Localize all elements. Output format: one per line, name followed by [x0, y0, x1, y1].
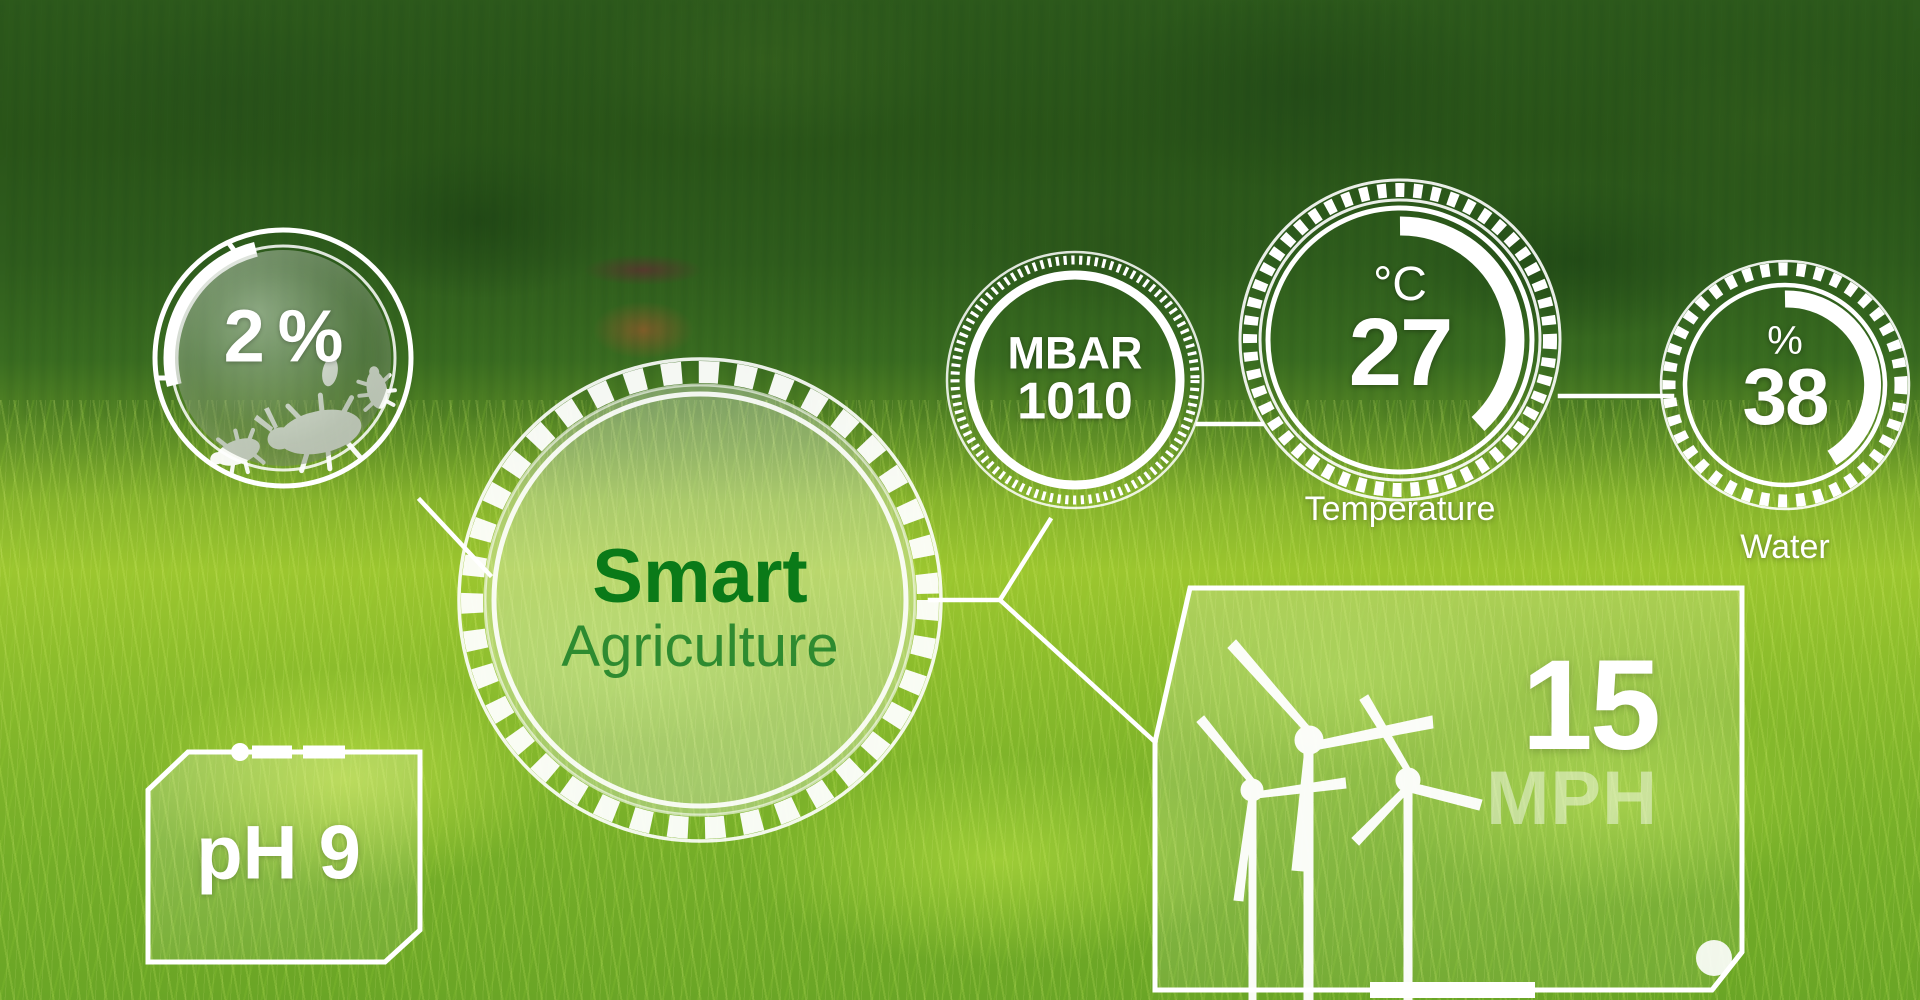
pressure-label: MBAR — [1008, 331, 1143, 375]
pressure-value: 1010 — [1008, 376, 1143, 429]
pressure-gauge[interactable]: MBAR 1010 — [955, 260, 1195, 500]
wind-unit: MPH — [1486, 763, 1658, 835]
smart-agriculture-line1: Smart — [561, 539, 838, 615]
wind-value: 15 — [1486, 648, 1658, 763]
ph-panel[interactable]: pH 9 — [148, 752, 420, 962]
pest-value: 2 % — [175, 250, 391, 466]
smart-agriculture-node[interactable]: Smart Agriculture — [485, 385, 915, 815]
temperature-caption: Temperature — [1305, 490, 1496, 529]
water-caption: Water — [1740, 528, 1829, 567]
temperature-gauge[interactable]: °C 27 — [1240, 180, 1560, 500]
infographic-canvas: 2 % MBAR 1010 °C 27 Temperature % 38 Wat… — [0, 0, 1920, 1000]
water-value: 38 — [1743, 359, 1828, 435]
ph-value-text: pH 9 — [196, 809, 361, 896]
temperature-value: 27 — [1349, 306, 1452, 397]
wind-panel[interactable]: 15 MPH — [1155, 588, 1742, 990]
smart-agriculture-line2: Agriculture — [561, 615, 838, 679]
pest-value-text: 2 % — [224, 294, 343, 379]
water-gauge[interactable]: % 38 — [1645, 245, 1920, 525]
hud-text-layer: 2 % MBAR 1010 °C 27 Temperature % 38 Wat… — [0, 0, 1920, 1000]
